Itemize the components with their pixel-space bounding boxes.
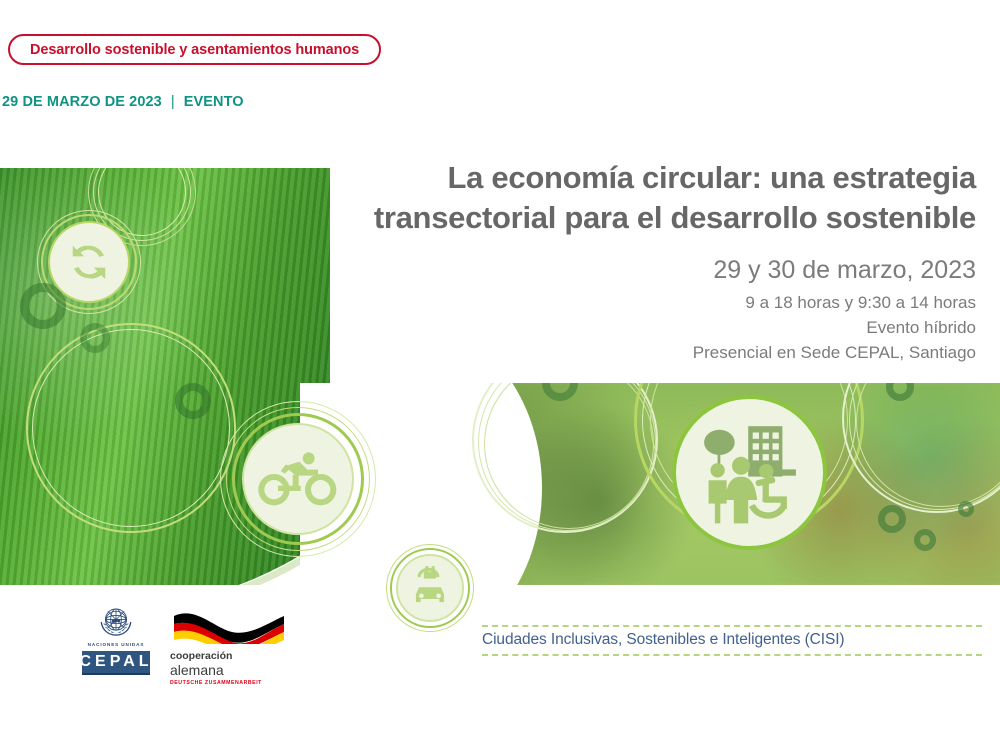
- title-line-2: transectorial para el desarrollo sosteni…: [374, 200, 976, 235]
- meta-separator: |: [171, 94, 175, 110]
- inclusive-city-icon-bubble: [672, 395, 827, 550]
- german-cooperation-logo[interactable]: cooperación alemana DEUTSCHE ZUSAMMENARB…: [170, 608, 290, 686]
- german-flag-wave-icon: [170, 608, 288, 644]
- cisi-strip: Ciudades Inclusivas, Sostenibles e Intel…: [482, 625, 982, 656]
- right-photo-panel: [402, 383, 1000, 585]
- bicycle-icon-bubble: [242, 423, 354, 535]
- german-logo-line-2: alemana: [170, 663, 290, 678]
- bicycle-icon: [258, 450, 338, 508]
- topic-badge[interactable]: Desarrollo sostenible y asentamientos hu…: [8, 34, 381, 65]
- event-hours: 9 a 18 horas y 9:30 a 14 horas: [336, 293, 976, 313]
- un-emblem-icon: [96, 604, 136, 640]
- title-line-1: La economía circular: una estrategia: [448, 160, 976, 195]
- inclusive-city-icon: [696, 419, 804, 527]
- german-logo-line-1: cooperación: [170, 651, 290, 663]
- event-venue: Presencial en Sede CEPAL, Santiago: [336, 343, 976, 363]
- recycle-icon-bubble: [48, 221, 130, 303]
- event-dates: 29 y 30 de marzo, 2023: [336, 255, 976, 285]
- topic-badge-label: Desarrollo sostenible y asentamientos hu…: [30, 42, 359, 58]
- recycle-icon: [63, 236, 115, 288]
- event-meta-line: 29 DE MARZO DE 2023 | EVENTO: [2, 94, 244, 110]
- event-date: 29 DE MARZO DE 2023: [2, 94, 162, 110]
- cepal-acronym: CEPAL: [82, 651, 150, 675]
- cisi-label: Ciudades Inclusivas, Sostenibles e Intel…: [482, 631, 982, 649]
- event-type: EVENTO: [184, 94, 244, 110]
- event-banner: La economía circular: una estrategia tra…: [0, 130, 1000, 590]
- page-title: La economía circular: una estrategia tra…: [336, 158, 976, 239]
- banner-title-block: La economía circular: una estrategia tra…: [336, 158, 976, 363]
- event-mode: Evento híbrido: [336, 318, 976, 338]
- german-logo-line-3: DEUTSCHE ZUSAMMENARBEIT: [170, 680, 290, 686]
- un-caption: NACIONES UNIDAS: [78, 642, 154, 647]
- footer: NACIONES UNIDAS CEPAL cooperación aleman…: [0, 592, 1000, 692]
- cepal-logo[interactable]: NACIONES UNIDAS CEPAL: [78, 604, 154, 675]
